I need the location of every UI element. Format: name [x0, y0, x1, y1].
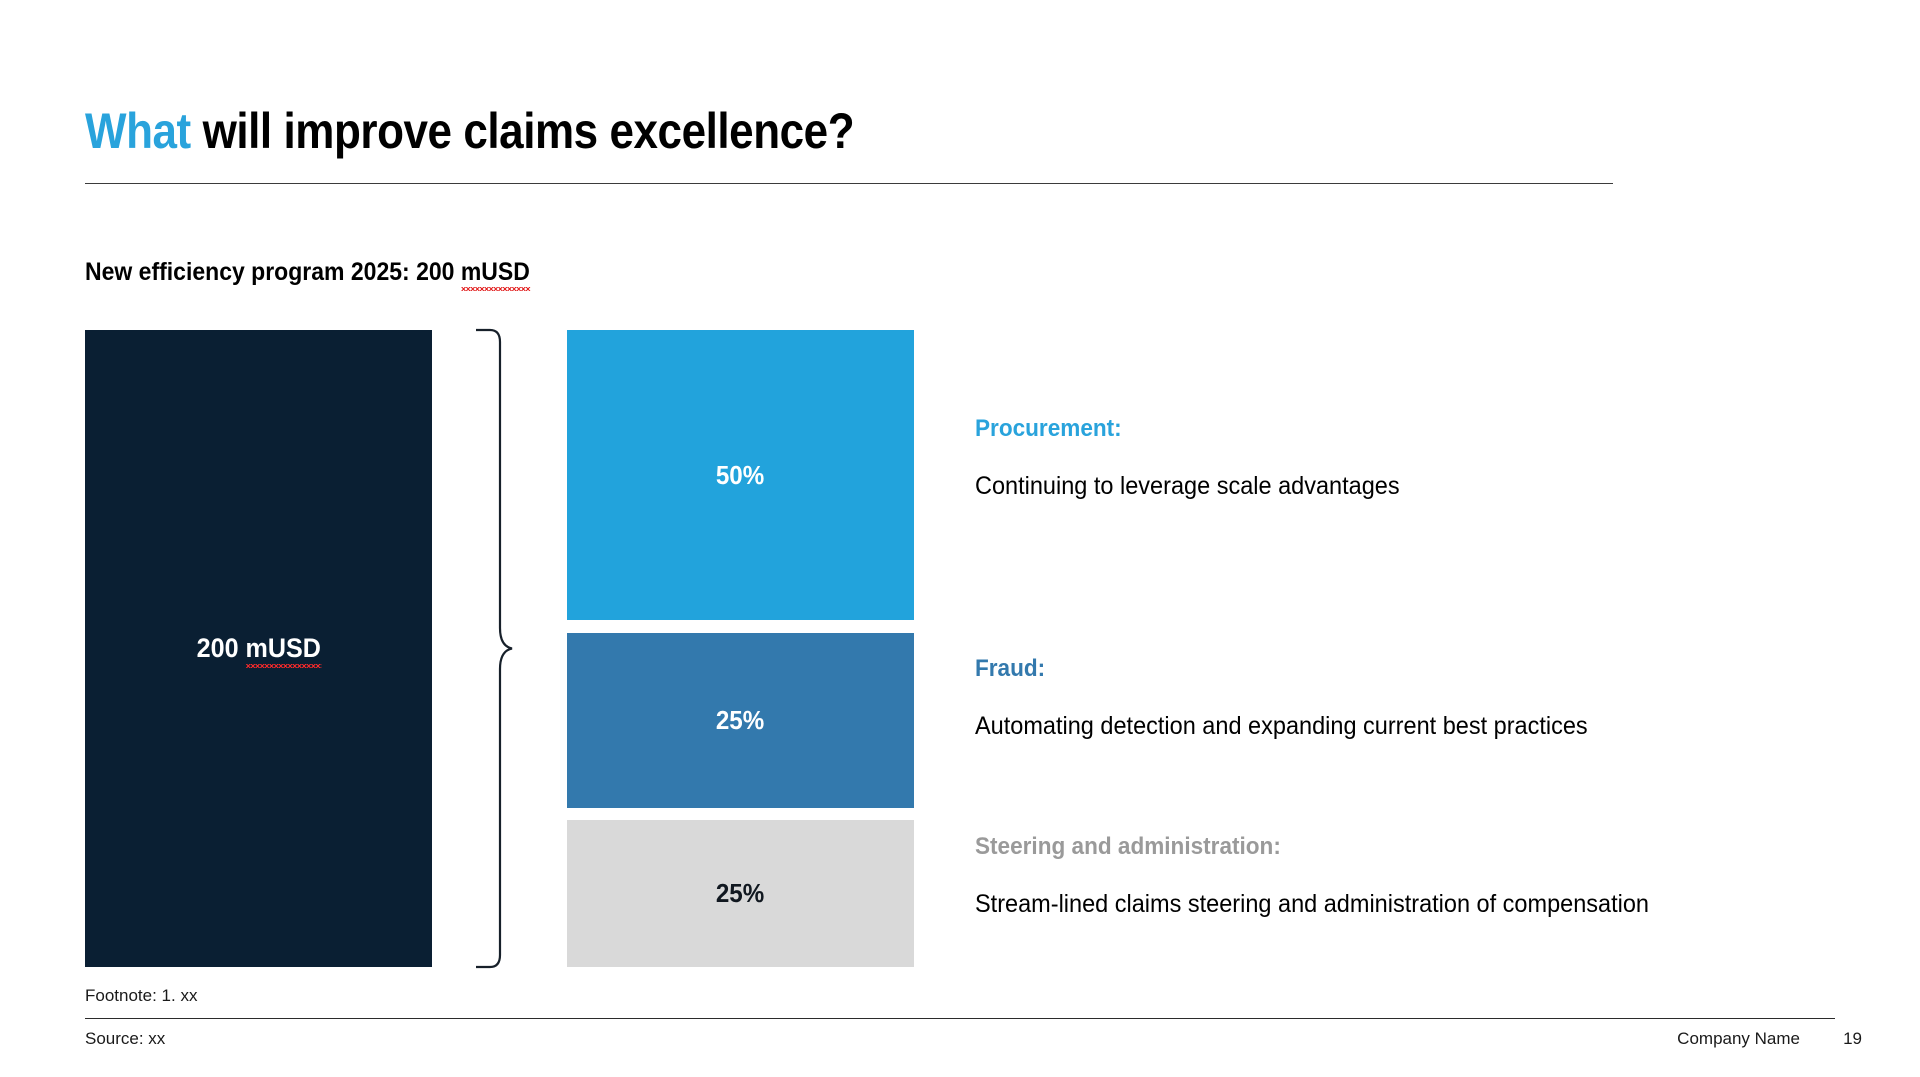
description-block-procurement: Procurement: Continuing to leverage scal… [975, 415, 1855, 501]
description-block-steering-administration: Steering and administration: Stream-line… [975, 833, 1855, 919]
description-body: Automating detection and expanding curre… [975, 712, 1802, 741]
description-block-fraud: Fraud: Automating detection and expandin… [975, 655, 1855, 741]
segment-bar-steering-administration: 25% [567, 820, 914, 967]
description-heading: Fraud: [975, 655, 1802, 683]
segment-percent-label: 25% [716, 705, 764, 736]
title-remainder: will improve claims excellence? [191, 103, 854, 159]
total-value-number: 200 [196, 633, 245, 663]
total-value-unit: mUSD [245, 633, 320, 664]
source-text: Source: xx [85, 1029, 165, 1049]
subtitle: New efficiency program 2025: 200 mUSD [85, 258, 530, 287]
company-name: Company Name [1677, 1029, 1800, 1049]
description-body: Continuing to leverage scale advantages [975, 472, 1802, 501]
segment-percent-label: 25% [716, 878, 764, 909]
description-heading: Procurement: [975, 415, 1802, 443]
segment-bar-procurement: 50% [567, 330, 914, 620]
title-divider [85, 183, 1613, 184]
segment-bar-group: 50% 25% 25% [567, 330, 914, 967]
footnote-text: Footnote: 1. xx [85, 986, 197, 1006]
curly-brace-right-icon [470, 328, 520, 969]
page-title: What will improve claims excellence? [85, 105, 1835, 158]
description-heading: Steering and administration: [975, 833, 1802, 861]
total-value-bar: 200 mUSD [85, 330, 432, 967]
title-accent-word: What [85, 103, 191, 159]
total-value-label: 200 mUSD [196, 633, 320, 664]
page-number: 19 [1843, 1029, 1862, 1049]
description-body: Stream-lined claims steering and adminis… [975, 890, 1802, 919]
segment-percent-label: 50% [716, 460, 764, 491]
subtitle-misspelled-word: mUSD [461, 258, 530, 287]
title-text: What will improve claims excellence? [85, 105, 1625, 158]
footer-divider [85, 1018, 1835, 1019]
slide-canvas: What will improve claims excellence? New… [0, 0, 1920, 1077]
subtitle-prefix: New efficiency program 2025: 200 [85, 258, 461, 286]
segment-bar-fraud: 25% [567, 633, 914, 808]
